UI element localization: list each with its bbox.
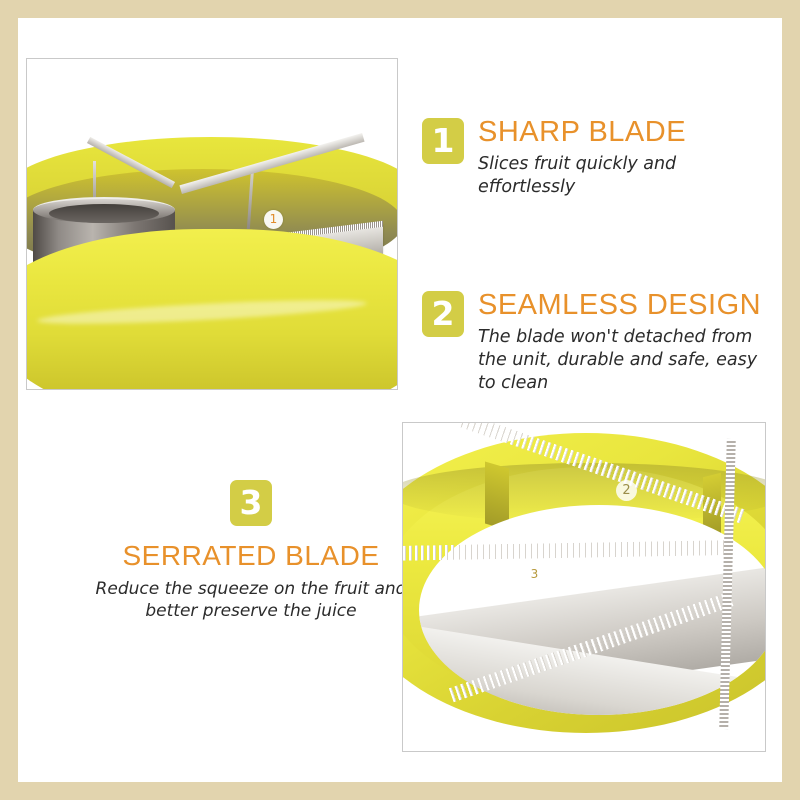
feature-3-body: SERRATED BLADE Reduce the squeeze on the… (92, 542, 410, 623)
infographic-page: 1 1 SHARP BLADE Slices fruit quickly and… (0, 0, 800, 800)
corer-tube-bore (49, 204, 159, 223)
feature-3-number-badge: 3 (230, 480, 272, 526)
feature-1-description: Slices fruit quickly and effortlessly (478, 153, 766, 200)
feature-block-2: 2 SEAMLESS DESIGN The blade won't detach… (422, 291, 770, 396)
feature-1-number-badge: 1 (422, 118, 464, 164)
feature-2-number-badge: 2 (422, 291, 464, 337)
feature-2-description: The blade won't detached from the unit, … (478, 326, 770, 396)
feature-2-body: SEAMLESS DESIGN The blade won't detached… (478, 291, 770, 396)
feature-1-title: SHARP BLADE (478, 118, 766, 148)
product-photo-2-artwork: 2 3 (403, 423, 765, 751)
feature-3-description: Reduce the squeeze on the fruit and bett… (92, 578, 410, 624)
photo-callout-2: 2 (616, 480, 637, 501)
infographic-canvas: 1 1 SHARP BLADE Slices fruit quickly and… (18, 18, 782, 782)
feature-block-1: 1 SHARP BLADE Slices fruit quickly and e… (422, 118, 766, 199)
product-photo-panel-2: 2 3 (402, 422, 766, 752)
feature-1-body: SHARP BLADE Slices fruit quickly and eff… (478, 118, 766, 199)
feature-3-head: 3 SERRATED BLADE Reduce the squeeze on t… (92, 480, 410, 623)
product-photo-panel-1: 1 (26, 58, 398, 390)
photo-callout-3: 3 (525, 565, 544, 584)
feature-2-head: 2 SEAMLESS DESIGN The blade won't detach… (422, 291, 770, 396)
feature-block-3: 3 SERRATED BLADE Reduce the squeeze on t… (92, 480, 410, 623)
feature-1-head: 1 SHARP BLADE Slices fruit quickly and e… (422, 118, 766, 199)
product-photo-1-artwork: 1 (27, 59, 397, 389)
feature-2-title: SEAMLESS DESIGN (478, 291, 770, 321)
feature-3-title: SERRATED BLADE (92, 542, 410, 571)
photo-callout-1: 1 (264, 210, 283, 229)
